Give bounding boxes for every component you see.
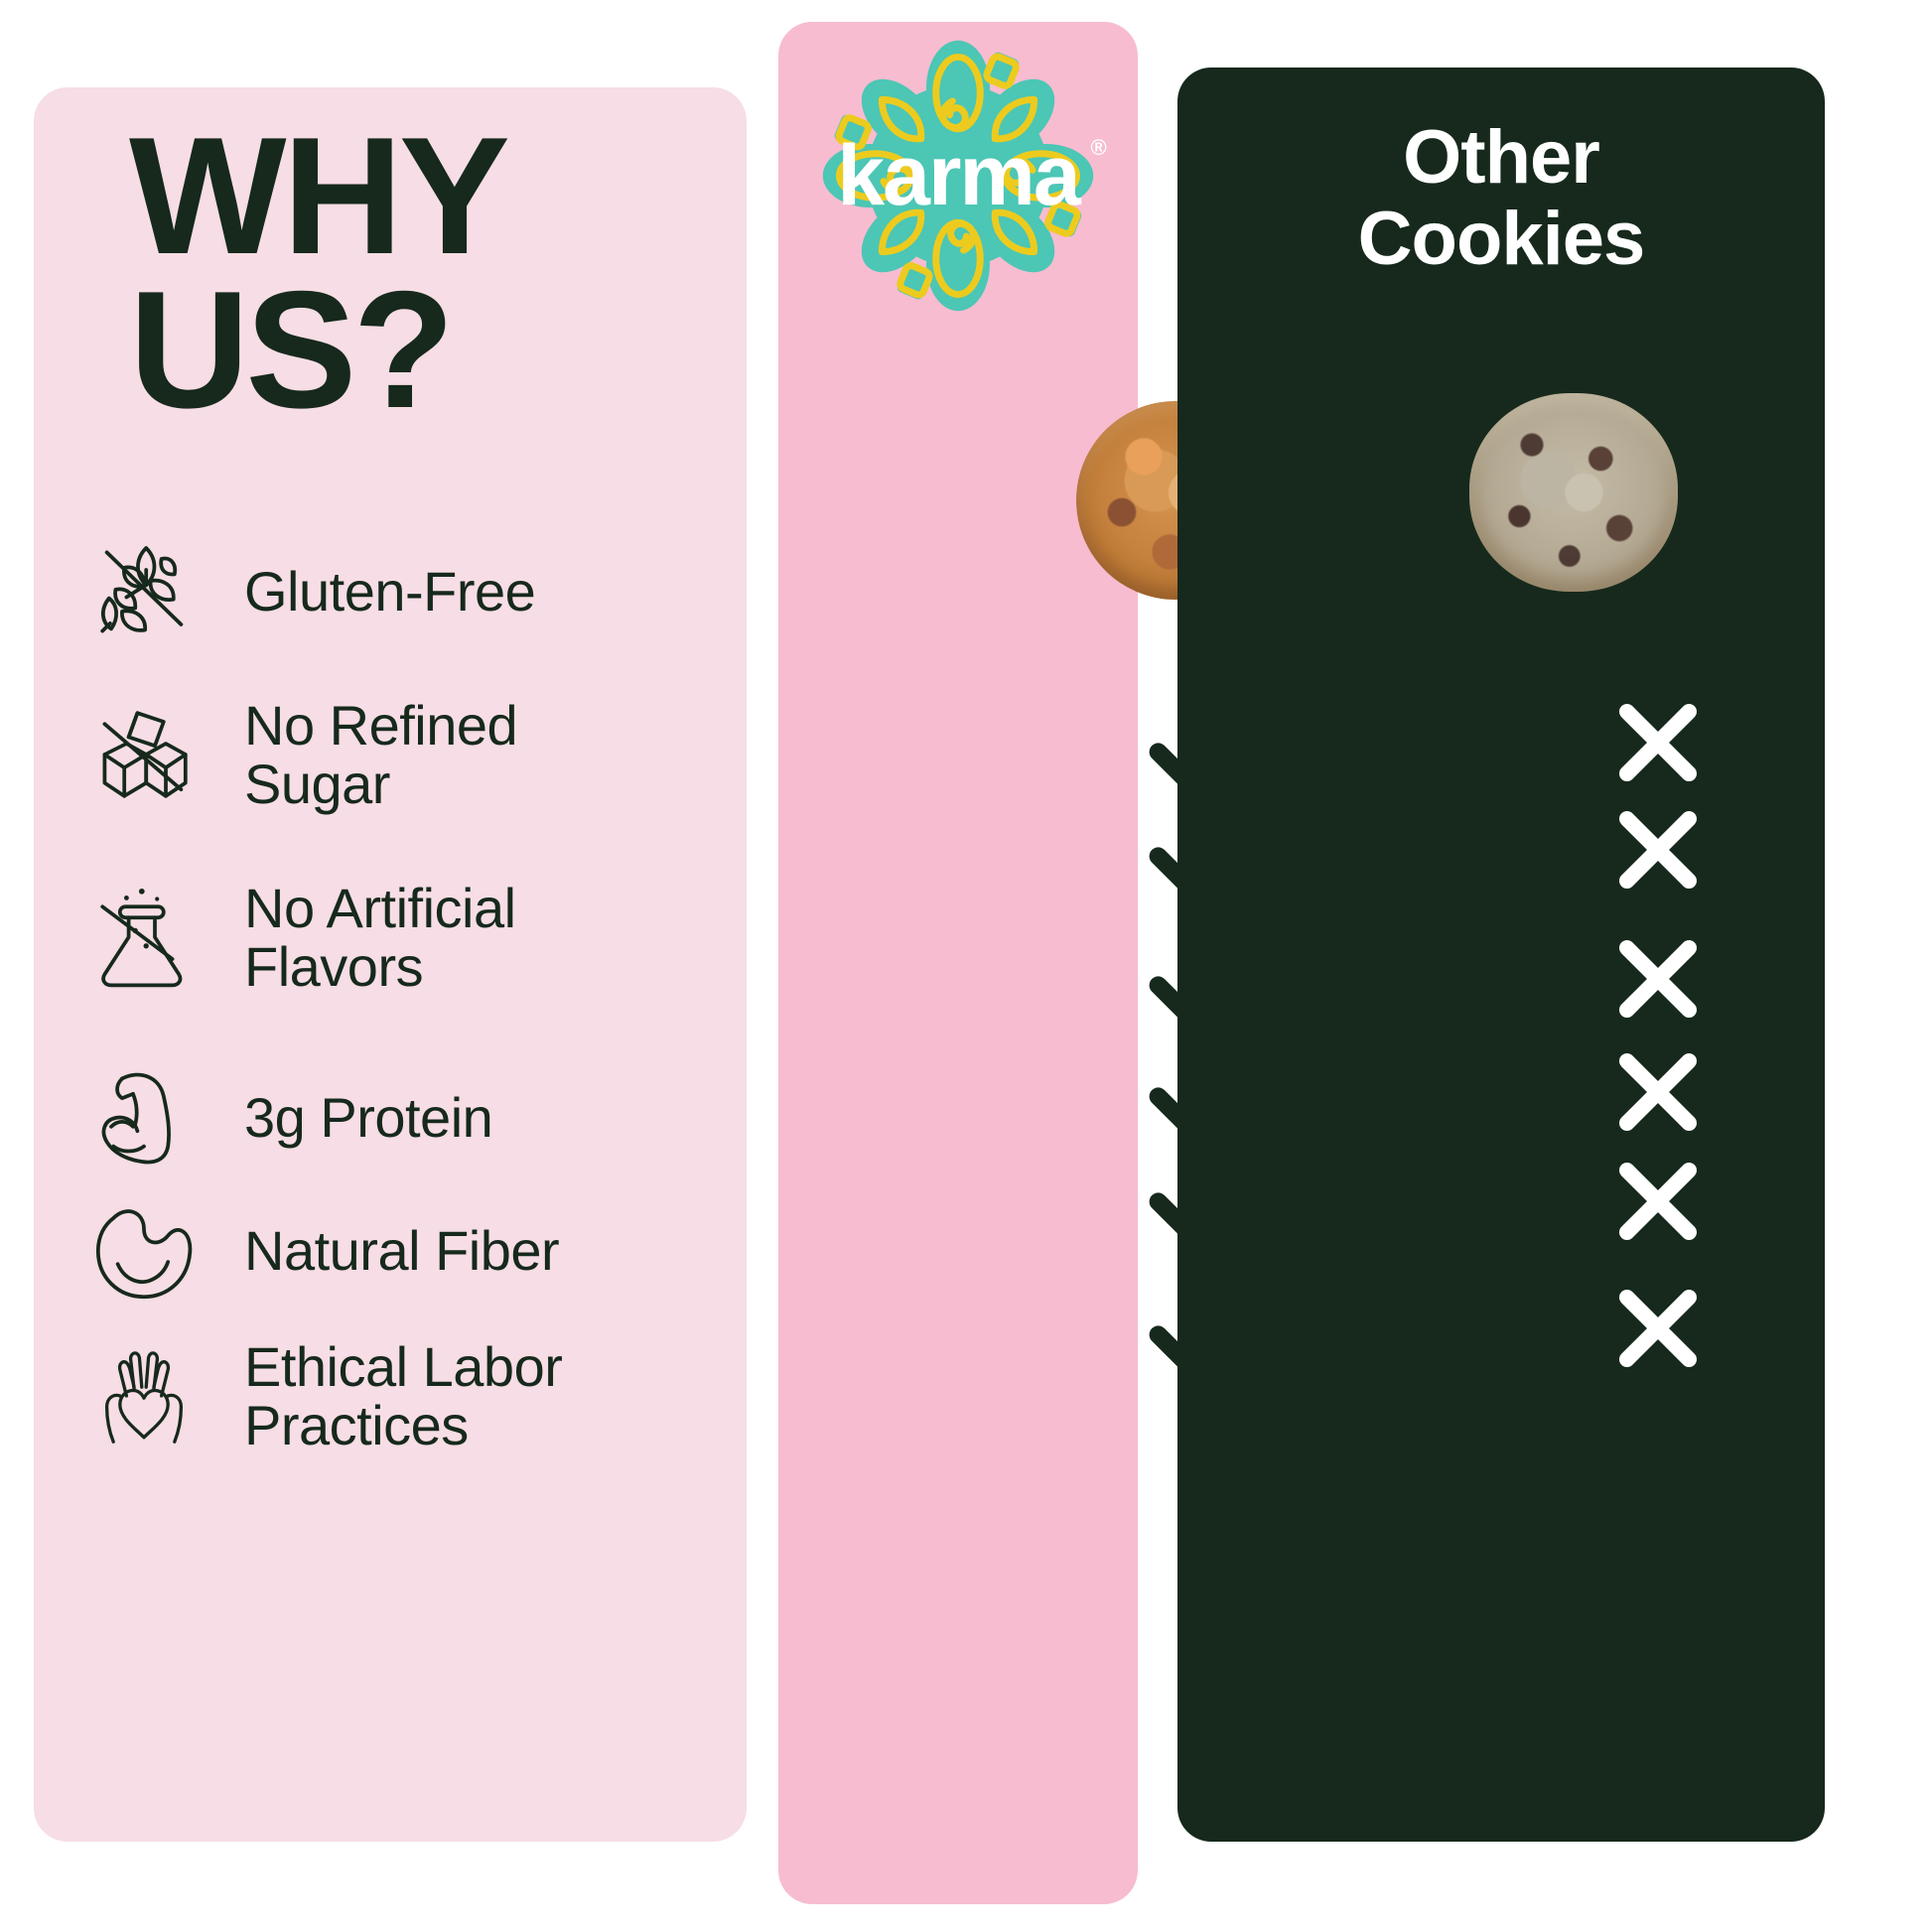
- bean-smile-icon: [81, 1192, 207, 1310]
- other-cookies-card: [1177, 68, 1825, 1842]
- registered-trademark-icon: ®: [1091, 137, 1105, 159]
- sugar-cubes-slashed-icon: [81, 696, 207, 813]
- feature-label: No Refined Sugar: [244, 696, 517, 814]
- feature-row-gluten-free: Gluten-Free: [81, 532, 717, 651]
- page-title: WHY US?: [129, 119, 725, 426]
- feature-row-3g-protein: 3g Protein: [81, 1058, 717, 1177]
- feature-label: 3g Protein: [244, 1088, 492, 1147]
- feature-row-no-refined-sugar: No Refined Sugar: [81, 695, 717, 814]
- infographic-stage: WHY US? Gluten-Free: [0, 0, 1932, 1932]
- karma-wordmark: karma ®: [820, 38, 1096, 314]
- feature-row-no-artificial-flavors: No Artificial Flavors: [81, 878, 717, 997]
- cross-icon: [1598, 1142, 1718, 1261]
- feature-label: Gluten-Free: [244, 562, 535, 621]
- wheat-slashed-icon: [81, 533, 207, 650]
- feature-label: Natural Fiber: [244, 1221, 559, 1280]
- cross-icon: [1598, 919, 1718, 1038]
- brand-name: karma: [837, 128, 1078, 223]
- feature-label: No Artificial Flavors: [244, 879, 516, 997]
- feature-label: Ethical Labor Practices: [244, 1337, 562, 1455]
- feature-row-natural-fiber: Natural Fiber: [81, 1191, 717, 1311]
- other-cookies-title: Other Cookies: [1197, 117, 1805, 280]
- cross-icon: [1598, 790, 1718, 909]
- feature-row-ethical-labor-practices: Ethical Labor Practices: [81, 1336, 717, 1455]
- other-cookie-photo: [1469, 393, 1678, 592]
- cross-icon: [1598, 1033, 1718, 1152]
- cross-icon: [1598, 1269, 1718, 1388]
- flexed-bicep-icon: [81, 1059, 207, 1176]
- hands-heart-icon: [81, 1337, 207, 1454]
- flask-slashed-icon: [81, 879, 207, 996]
- cross-icon: [1598, 683, 1718, 802]
